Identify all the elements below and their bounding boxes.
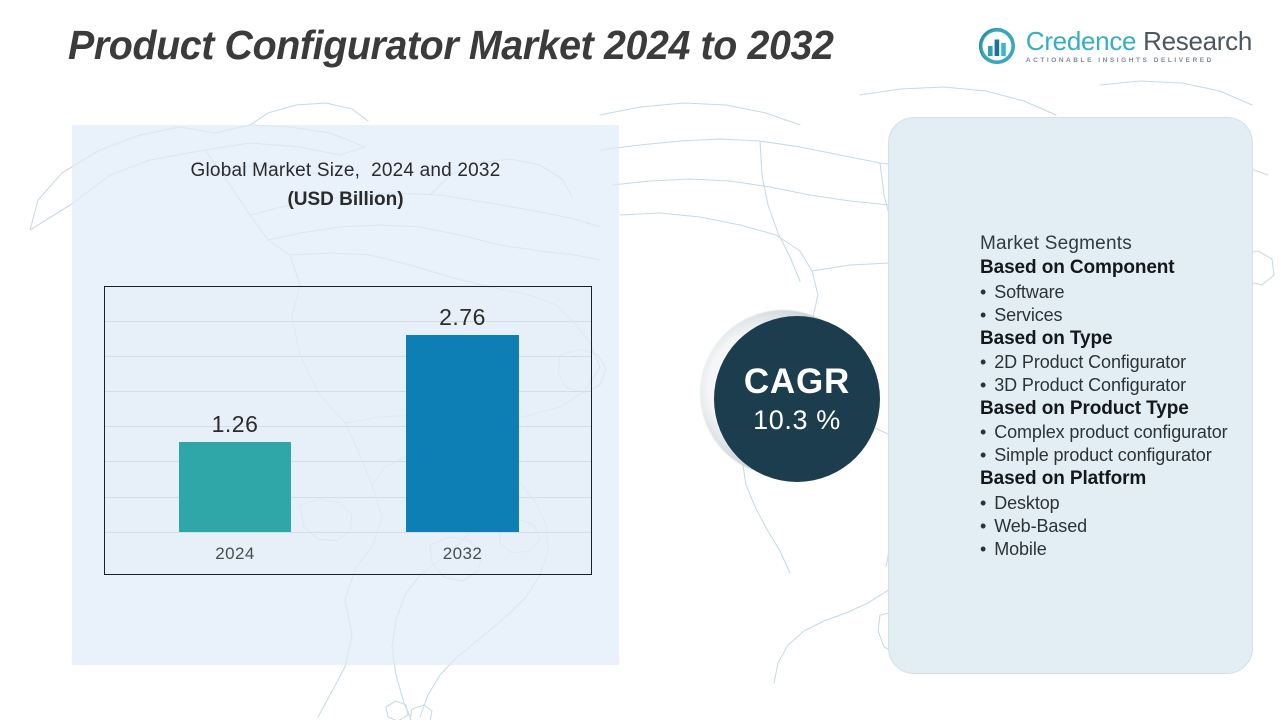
brand-logo: Credence Research Actionable Insights De… bbox=[977, 26, 1252, 66]
segment-item-label: Desktop bbox=[994, 492, 1260, 515]
segment-item: •3D Product Configurator bbox=[980, 374, 1260, 397]
segment-item-label: Complex product configurator bbox=[994, 421, 1260, 444]
segment-group-title: Based on Component bbox=[980, 256, 1260, 280]
segments-groups: Based on Component•Software•ServicesBase… bbox=[980, 256, 1260, 561]
bullet-icon: • bbox=[980, 281, 986, 304]
segment-group-title: Based on Product Type bbox=[980, 397, 1260, 421]
bar-2032 bbox=[406, 335, 519, 532]
bullet-icon: • bbox=[980, 492, 986, 515]
chart-title-block: Global Market Size, 2024 and 2032 (USD B… bbox=[72, 160, 619, 211]
bullet-icon: • bbox=[980, 374, 986, 397]
logo-text: Credence Research Actionable Insights De… bbox=[1026, 28, 1252, 65]
bar-value-2032: 2.76 bbox=[406, 304, 519, 331]
logo-word-research: Research bbox=[1136, 26, 1252, 56]
bullet-icon: • bbox=[980, 304, 986, 327]
infographic-canvas: Product Configurator Market 2024 to 2032… bbox=[0, 0, 1280, 720]
cagr-badge: CAGR 10.3 % bbox=[714, 316, 880, 482]
segment-item: •Complex product configurator bbox=[980, 421, 1260, 444]
chart-title-units: (USD Billion) bbox=[72, 189, 619, 211]
segment-item: •Desktop bbox=[980, 492, 1260, 515]
cagr-value: 10.3 % bbox=[753, 407, 841, 434]
bullet-icon: • bbox=[980, 351, 986, 374]
bullet-icon: • bbox=[980, 515, 986, 538]
segment-item-label: 3D Product Configurator bbox=[994, 374, 1260, 397]
bar-value-2024: 1.26 bbox=[179, 411, 291, 438]
segment-group-title: Based on Platform bbox=[980, 467, 1260, 491]
segment-item: •Mobile bbox=[980, 538, 1260, 561]
segments-heading: Market Segments bbox=[980, 232, 1260, 256]
credence-logo-mark bbox=[977, 26, 1017, 66]
bullet-icon: • bbox=[980, 421, 986, 444]
segment-item: •Web-Based bbox=[980, 515, 1260, 538]
segment-item-label: Simple product configurator bbox=[994, 444, 1260, 467]
bar-2024 bbox=[179, 442, 291, 532]
bar-chart-plot-area: 1.26 2.76 2024 2032 bbox=[104, 286, 592, 575]
segment-group-title: Based on Type bbox=[980, 327, 1260, 351]
bullet-icon: • bbox=[980, 444, 986, 467]
segment-item: •Services bbox=[980, 304, 1260, 327]
segment-item-label: Software bbox=[994, 281, 1260, 304]
segment-item: •Simple product configurator bbox=[980, 444, 1260, 467]
segment-item-label: Services bbox=[994, 304, 1260, 327]
bullet-icon: • bbox=[980, 538, 986, 561]
segment-item: •2D Product Configurator bbox=[980, 351, 1260, 374]
bar-category-2024: 2024 bbox=[179, 544, 291, 564]
segment-item-label: Mobile bbox=[994, 538, 1260, 561]
logo-tagline: Actionable Insights Delivered bbox=[1026, 58, 1252, 65]
segment-item-label: 2D Product Configurator bbox=[994, 351, 1260, 374]
cagr-label: CAGR bbox=[744, 364, 850, 399]
bar-category-2032: 2032 bbox=[406, 544, 519, 564]
market-segments-list: Market Segments Based on Component•Softw… bbox=[980, 232, 1260, 561]
segment-item: •Software bbox=[980, 281, 1260, 304]
page-title: Product Configurator Market 2024 to 2032 bbox=[68, 22, 833, 69]
logo-word-credence: Credence bbox=[1026, 26, 1136, 56]
segment-item-label: Web-Based bbox=[994, 515, 1260, 538]
logo-wordmark: Credence Research bbox=[1026, 28, 1252, 54]
gridline bbox=[105, 532, 591, 533]
chart-title-main: Global Market Size, 2024 and 2032 bbox=[72, 160, 619, 182]
cagr-circle: CAGR 10.3 % bbox=[714, 316, 880, 482]
